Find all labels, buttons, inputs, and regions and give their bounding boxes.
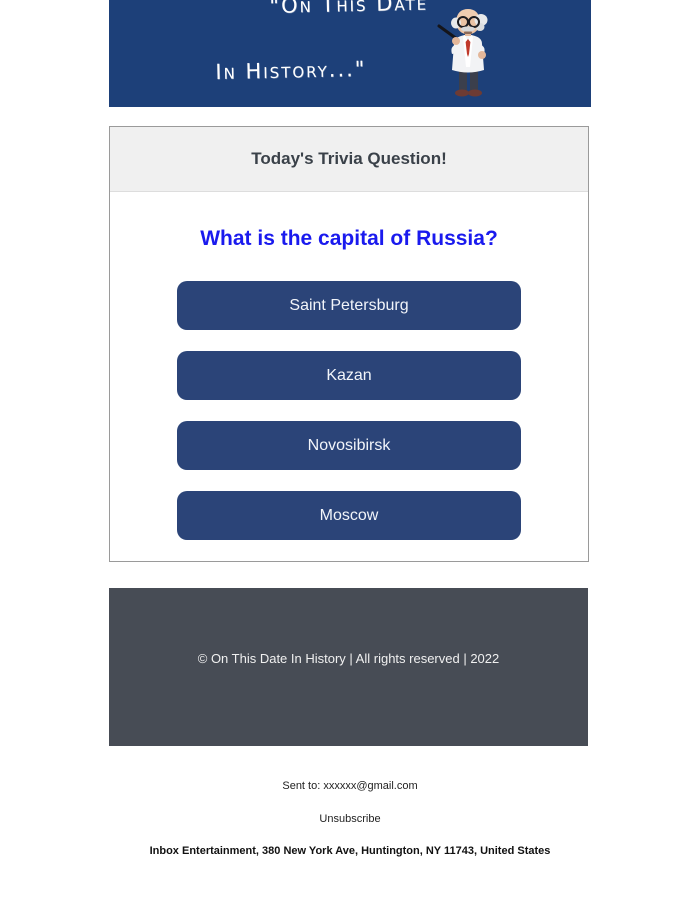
banner-content: "On This Date In History..." bbox=[109, 0, 591, 107]
banner-title-line1: "On This Date bbox=[269, 0, 428, 17]
answer-option-2[interactable]: Kazan bbox=[177, 351, 521, 400]
banner-title-line2: In History..." bbox=[201, 51, 430, 88]
email-meta-block: Sent to: xxxxxx@gmail.com Unsubscribe In… bbox=[0, 780, 700, 857]
sent-to-text: Sent to: xxxxxx@gmail.com bbox=[0, 780, 700, 792]
sender-address: Inbox Entertainment, 380 New York Ave, H… bbox=[0, 845, 700, 857]
trivia-card-body: What is the capital of Russia? Saint Pet… bbox=[110, 227, 588, 540]
trivia-card-title: Today's Trivia Question! bbox=[251, 149, 447, 169]
banner-title: "On This Date In History..." bbox=[199, 0, 431, 107]
trivia-card-header: Today's Trivia Question! bbox=[110, 127, 588, 192]
trivia-card: Today's Trivia Question! What is the cap… bbox=[109, 126, 589, 562]
trivia-question: What is the capital of Russia? bbox=[110, 227, 588, 251]
answer-option-3[interactable]: Novosibirsk bbox=[177, 421, 521, 470]
email-page: "On This Date In History..." bbox=[0, 0, 700, 899]
answer-option-1[interactable]: Saint Petersburg bbox=[177, 281, 521, 330]
email-banner: "On This Date In History..." bbox=[109, 0, 591, 107]
answer-option-4[interactable]: Moscow bbox=[177, 491, 521, 540]
email-footer: © On This Date In History | All rights r… bbox=[109, 588, 588, 746]
professor-mascot-icon bbox=[437, 8, 499, 100]
footer-copyright: © On This Date In History | All rights r… bbox=[109, 651, 588, 666]
answer-options-list: Saint Petersburg Kazan Novosibirsk Mosco… bbox=[110, 281, 588, 540]
unsubscribe-link[interactable]: Unsubscribe bbox=[0, 813, 700, 825]
